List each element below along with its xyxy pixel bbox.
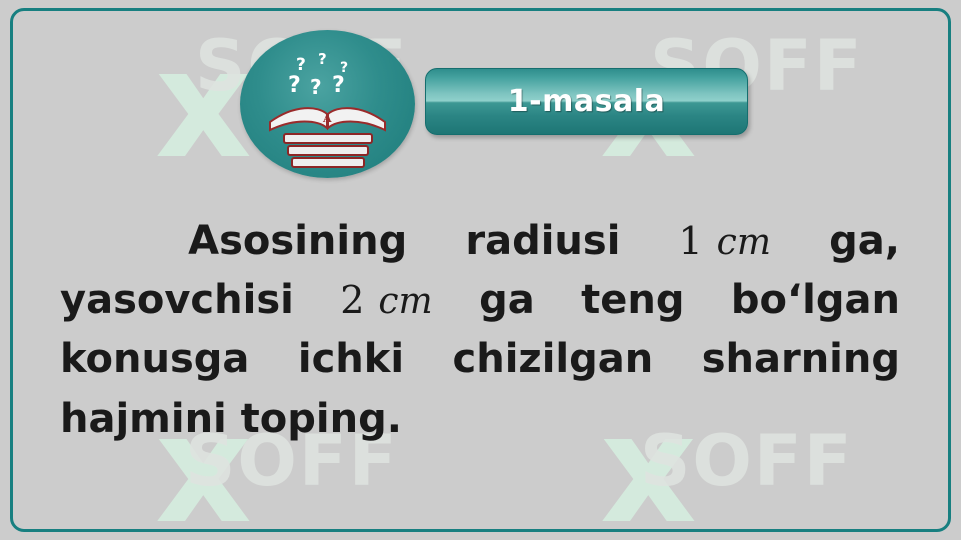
problem-line-1: Asosiningradiusi1 cmga, (60, 212, 900, 271)
word: ga (479, 271, 535, 330)
word: ga, (829, 212, 900, 271)
slide-root: x x x x SOFF SOFF SOFF SOFF 1-masala ? ?… (0, 0, 961, 540)
word: radiusi (465, 212, 620, 271)
open-book-icon: ? ? ? ? ? ? A (240, 30, 415, 178)
svg-text:A: A (322, 112, 332, 125)
measure-2: 2 cm (340, 271, 432, 330)
word: yasovchisi (60, 271, 294, 330)
task-banner-label: 1-masala (508, 84, 665, 119)
svg-text:?: ? (288, 73, 301, 98)
problem-text: Asosiningradiusi1 cmga, yasovchisi2 cmga… (60, 212, 900, 449)
svg-text:?: ? (296, 55, 306, 75)
line-text: hajmini toping. (60, 396, 402, 442)
task-banner: 1-masala (425, 68, 748, 135)
book-question-emblem: ? ? ? ? ? ? A (240, 30, 415, 178)
problem-line-2: yasovchisi2 cmgatengbo‘lgan (60, 271, 900, 330)
word: teng (581, 271, 684, 330)
word: bo‘lgan (731, 271, 900, 330)
svg-text:?: ? (310, 75, 322, 99)
problem-line-4: hajmini toping. (60, 390, 900, 449)
line-text: konusga ichki chizilgan sharning (60, 336, 900, 382)
problem-line-3: konusga ichki chizilgan sharning (60, 330, 900, 389)
svg-text:?: ? (332, 73, 345, 98)
word: Asosining (188, 212, 407, 271)
measure-1: 1 cm (679, 212, 771, 271)
svg-text:?: ? (318, 50, 327, 68)
